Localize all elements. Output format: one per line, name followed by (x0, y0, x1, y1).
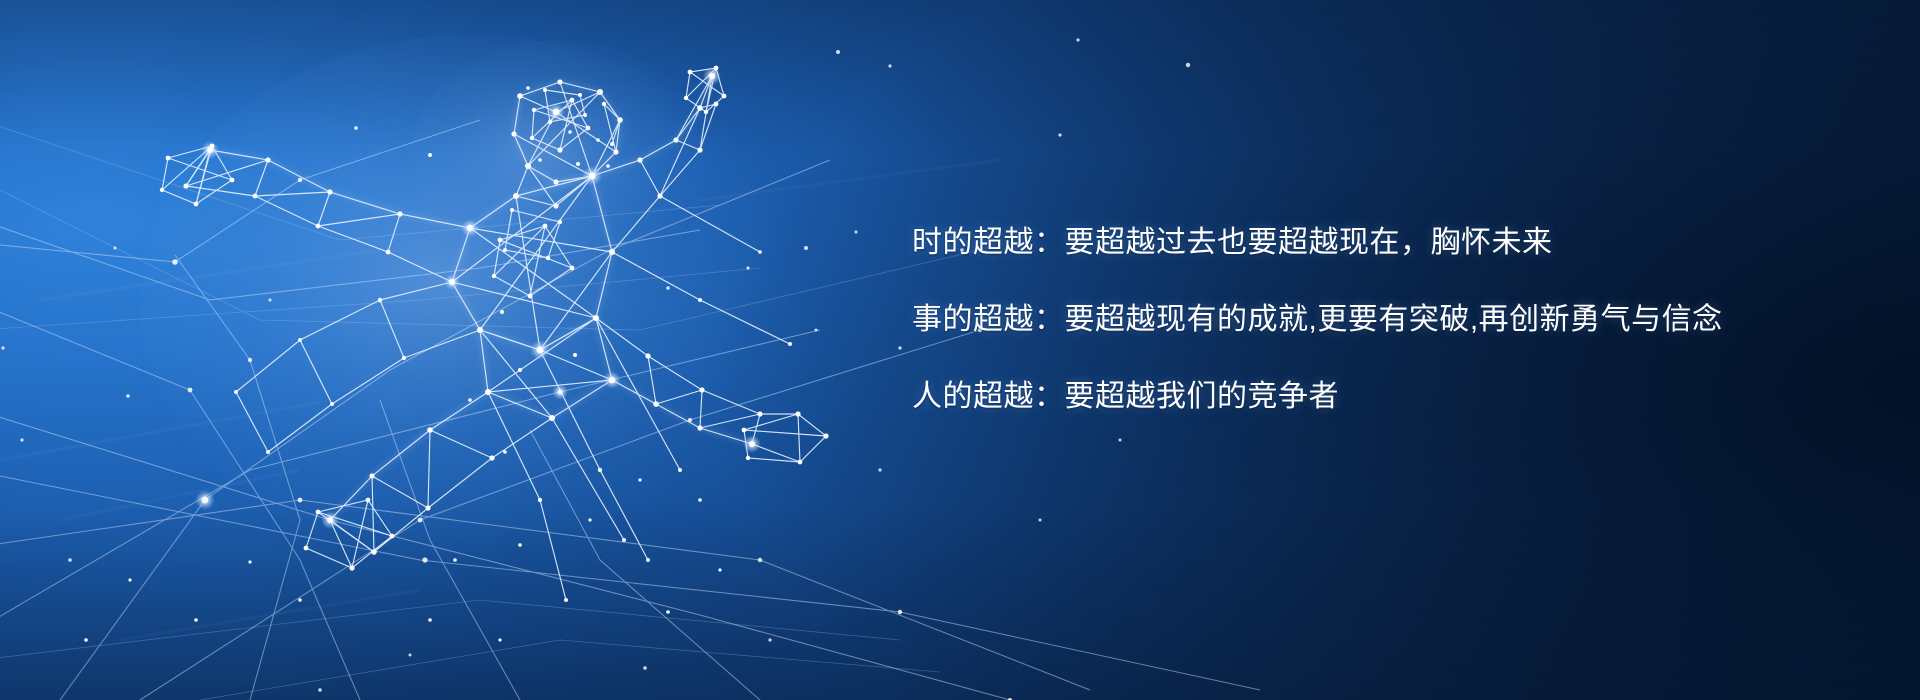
slogan-block: 时的超越：要超越过去也要超越现在，胸怀未来 事的超越：要超越现有的成就,更要有突… (912, 228, 1723, 412)
slogan-line-matter: 事的超越：要超越现有的成就,更要有突破,再创新勇气与信念 (912, 305, 1723, 335)
slogan-line-time: 时的超越：要超越过去也要超越现在，胸怀未来 (912, 228, 1723, 258)
hero-banner: 时的超越：要超越过去也要超越现在，胸怀未来 事的超越：要超越现有的成就,更要有突… (0, 0, 1920, 700)
slogan-line-people: 人的超越：要超越我们的竞争者 (912, 382, 1723, 412)
